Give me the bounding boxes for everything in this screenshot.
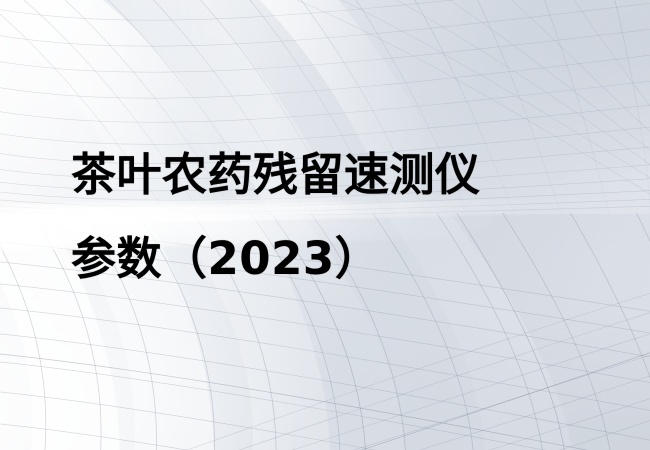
title-banner: 茶叶农药残留速测仪 参数（2023） — [0, 0, 650, 450]
page-title: 茶叶农药残留速测仪 参数（2023） — [71, 133, 591, 301]
title-line-2: 参数（2023） — [71, 217, 591, 301]
title-line-1: 茶叶农药残留速测仪 — [71, 133, 591, 217]
